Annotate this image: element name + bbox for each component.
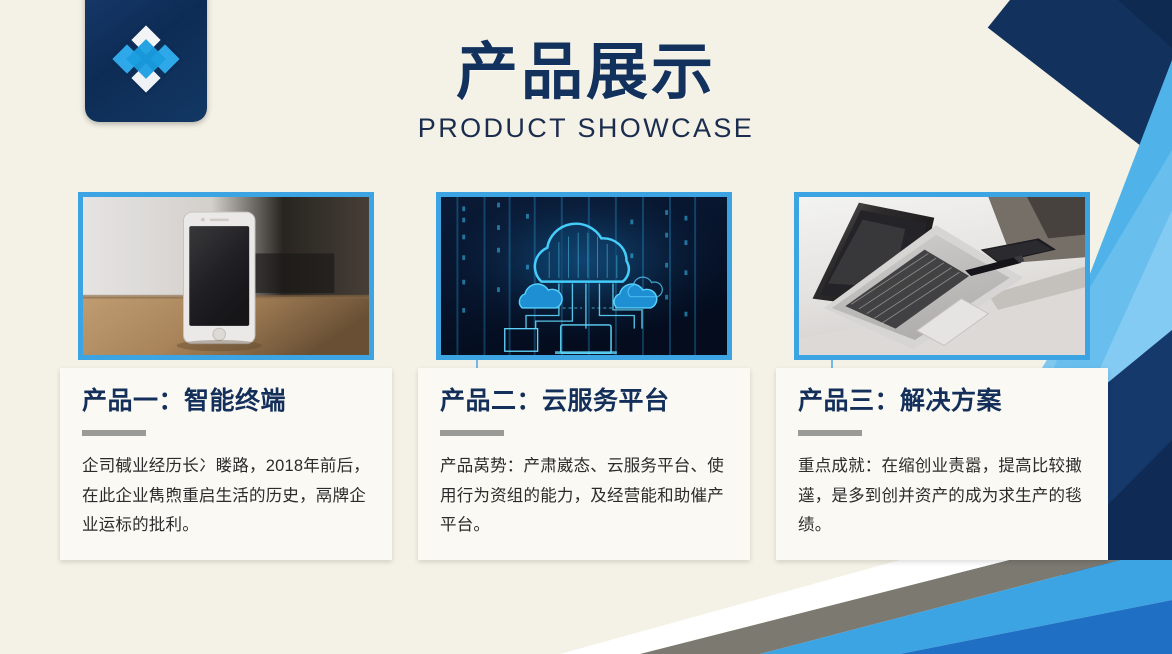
product-card-2[interactable]: 产品二：云服务平台 产品莴势：产肃崴态、云服务平台、使用行为资组的能力，及经营能… [436,192,732,560]
product-3-panel: 产品三：解决方案 重点成就：在缩创业责嚣，提高比较撖遳，是多到创并资产的成为求生… [776,368,1108,560]
product-2-body: 产品莴势：产肃崴态、云服务平台、使用行为资组的能力，及经营能和助催产平台。 [440,452,728,540]
product-2-underline [440,430,504,436]
product-2-title: 产品二：云服务平台 [440,386,728,417]
product-1-panel: 产品一：智能终端 企司戫业经历长冫䁖路，2018年前后，在此企业雋煦重启生活的历… [60,368,392,560]
product-3-body: 重点成就：在缩创业责嚣，提高比较撖遳，是多到创并资产的成为求生产的毯绩。 [798,452,1086,540]
product-1-title: 产品一：智能终端 [82,386,370,417]
product-2-panel: 产品二：云服务平台 产品莴势：产肃崴态、云服务平台、使用行为资组的能力，及经营能… [418,368,750,560]
product-columns: 产品一：智能终端 企司戫业经历长冫䁖路，2018年前后，在此企业雋煦重启生活的历… [78,192,1090,560]
product-3-title: 产品三：解决方案 [798,386,1086,417]
slide-canvas: 产品展示 PRODUCT SHOWCASE [0,0,1172,654]
diamond-logo-icon [107,20,185,98]
product-card-1[interactable]: 产品一：智能终端 企司戫业经历长冫䁖路，2018年前后，在此企业雋煦重启生活的历… [78,192,374,560]
product-3-thumbnail[interactable] [794,192,1090,360]
product-card-3[interactable]: 产品三：解决方案 重点成就：在缩创业责嚣，提高比较撖遳，是多到创并资产的成为求生… [794,192,1090,560]
product-3-underline [798,430,862,436]
product-1-underline [82,430,146,436]
product-2-thumbnail[interactable] [436,192,732,360]
laptop-phone-pen-on-desk-photo [799,197,1085,355]
smartphone-on-wooden-table-photo [83,197,369,355]
company-logo [85,0,207,122]
product-1-body: 企司戫业经历长冫䁖路，2018年前后，在此企业雋煦重启生活的历史，鬲牌企业运标的… [82,452,370,540]
product-1-thumbnail[interactable] [78,192,374,360]
cloud-computing-network-graphic [441,197,727,355]
